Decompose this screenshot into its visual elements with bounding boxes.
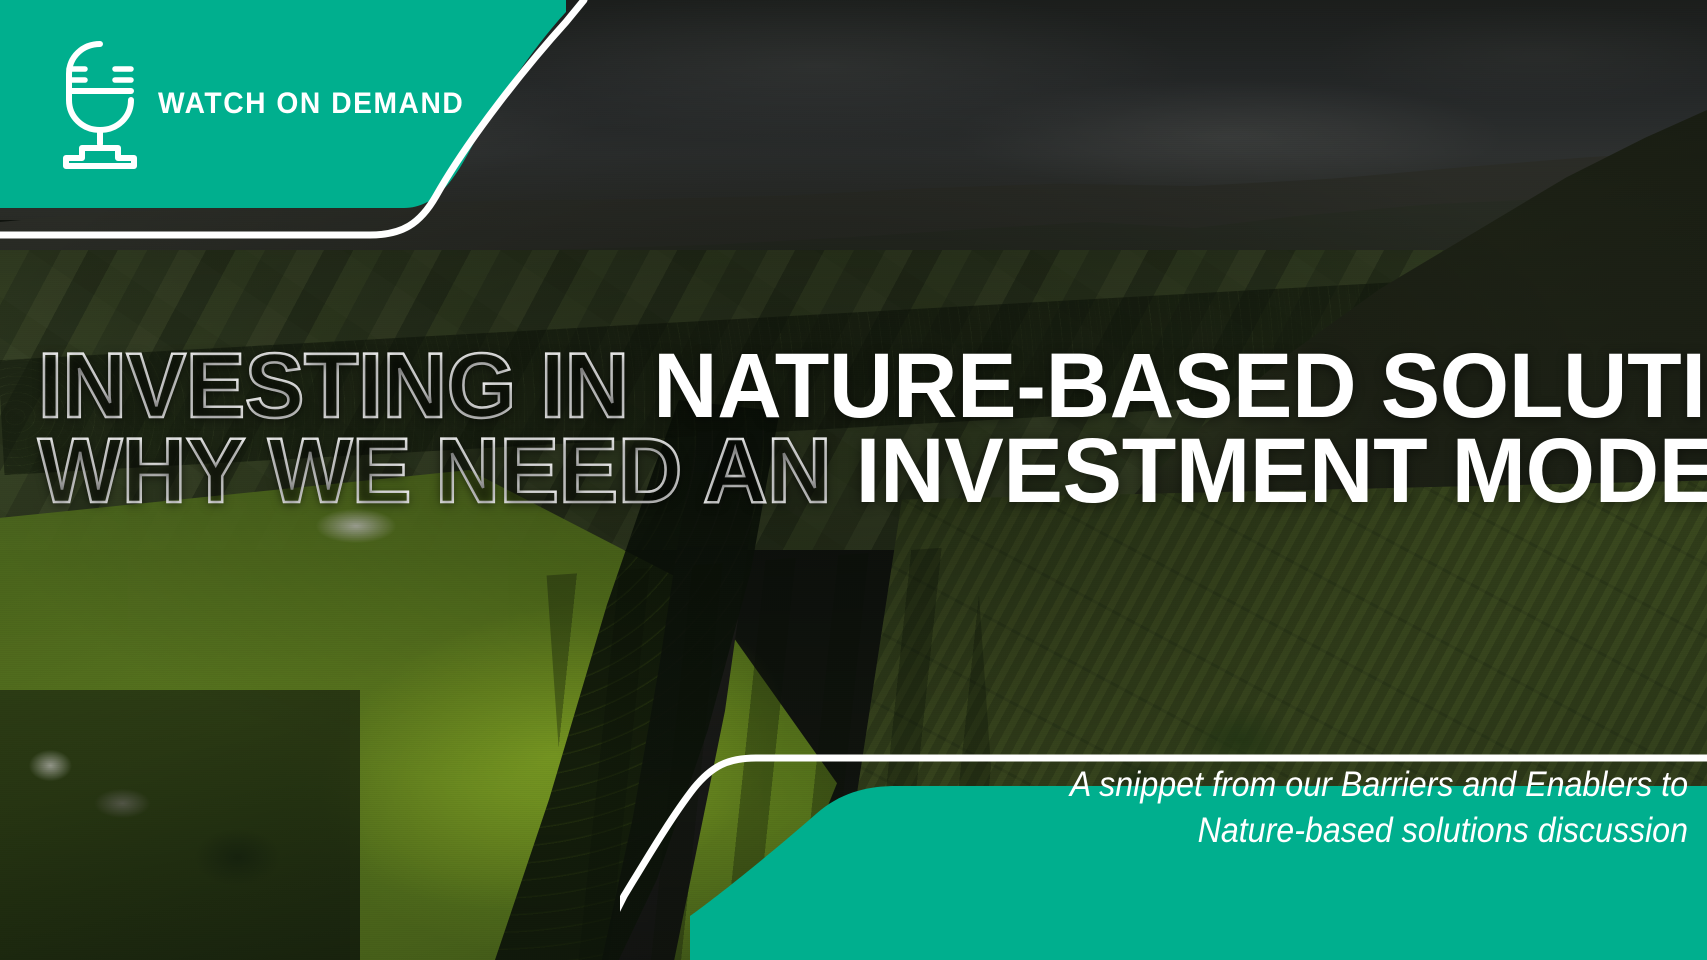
badge-label: WATCH ON DEMAND (158, 89, 464, 119)
title-line-2-outline: WHY WE NEED AN (38, 420, 856, 522)
title-line-1: INVESTING IN NATURE-BASED SOLUTIONS (38, 344, 1629, 429)
caption-text: A snippet from our Barriers and Enablers… (878, 762, 1688, 854)
caption-line-1: A snippet from our Barriers and Enablers… (878, 762, 1688, 808)
microphone-icon (52, 38, 148, 170)
thumbnail-stage: WATCH ON DEMAND INVESTING IN NATURE-BASE… (0, 0, 1707, 960)
page-title: INVESTING IN NATURE-BASED SOLUTIONS WHY … (38, 344, 1678, 513)
title-line-2: WHY WE NEED AN INVESTMENT MODEL (38, 429, 1629, 514)
caption-line-2: Nature-based solutions discussion (878, 808, 1688, 854)
title-line-2-solid: INVESTMENT MODEL (856, 420, 1707, 522)
